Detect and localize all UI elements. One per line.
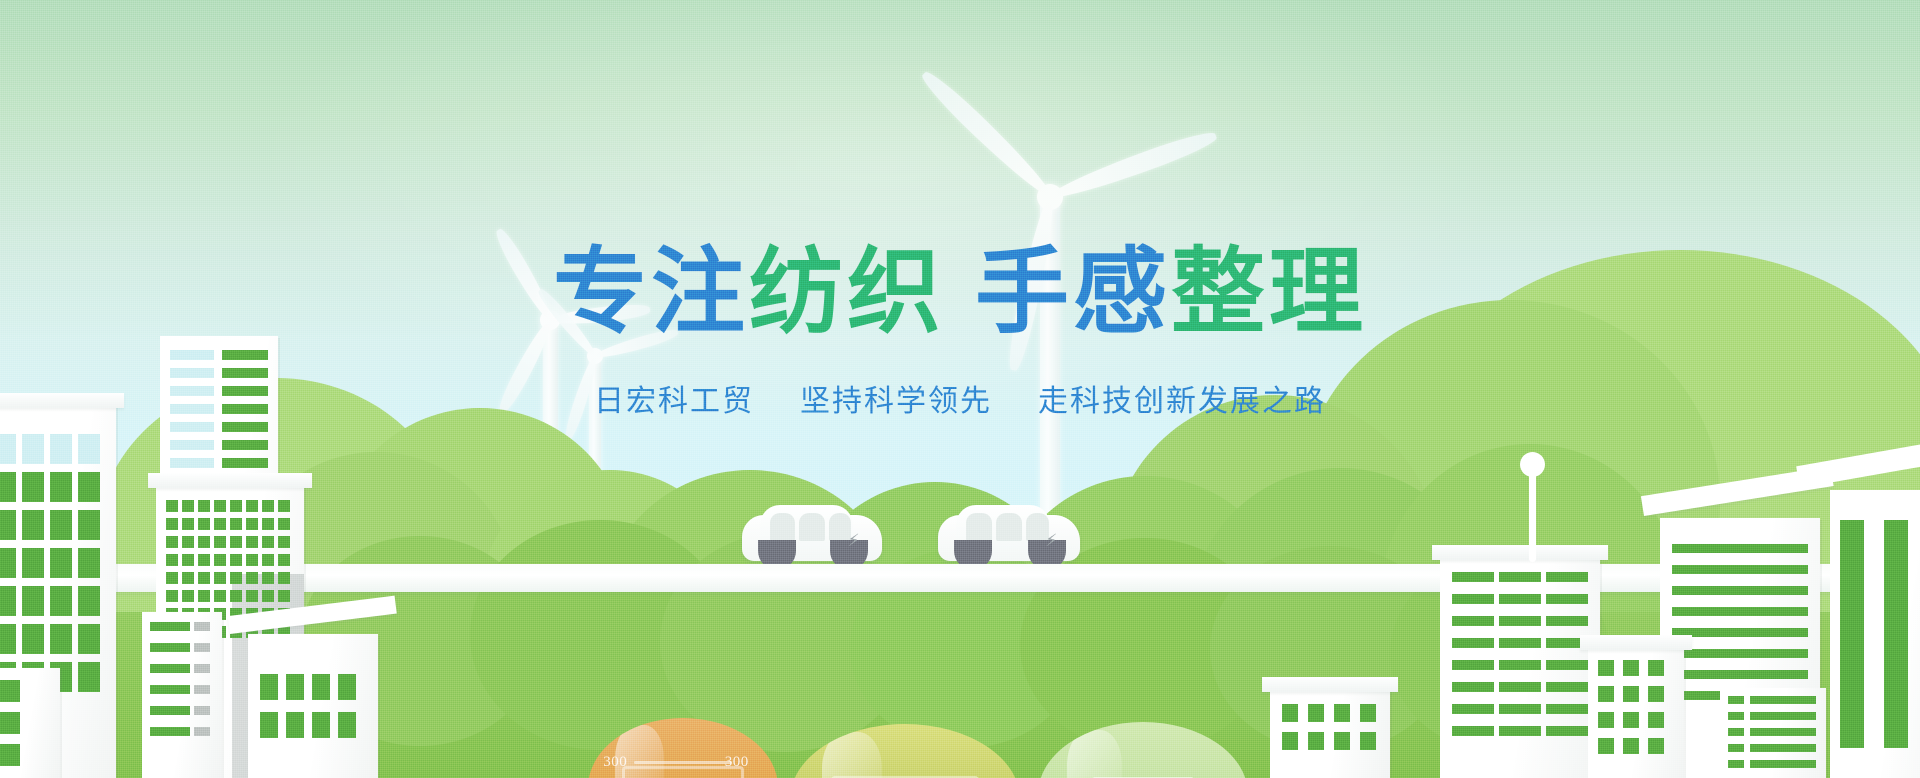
window [1840,520,1864,748]
window [1334,732,1350,750]
window [312,712,330,738]
window [1672,586,1808,595]
window [78,662,100,692]
window [150,622,190,631]
window [1546,616,1588,626]
electric-car-right: ⚡ [938,505,1080,561]
window [246,572,258,584]
window [1452,660,1494,670]
window [22,548,44,578]
window [0,712,20,734]
window [182,500,194,512]
window [1282,704,1298,722]
window [166,536,178,548]
window-grid [1282,704,1378,750]
window [1728,760,1744,768]
window [0,624,16,654]
window-grid [0,434,106,692]
window [222,440,268,450]
window [1452,726,1494,736]
beaker-gloss [1067,730,1122,778]
window [1452,616,1494,626]
window [246,590,258,602]
window [150,664,190,673]
window [1750,712,1816,720]
window [1360,732,1376,750]
window [194,622,210,631]
subtitle-part-1: 日宏科工贸 [594,385,754,418]
window [1452,638,1494,648]
window [1750,728,1816,736]
window [1884,520,1908,748]
window [1728,696,1744,704]
window [50,548,72,578]
window [0,434,16,464]
antenna-mast [1529,470,1536,562]
window [214,572,226,584]
window [0,744,20,766]
window [214,536,226,548]
window-stripe-grid [1672,544,1808,700]
window [1672,607,1808,616]
window [262,554,274,566]
window [278,554,290,566]
window [194,685,210,694]
window [182,590,194,602]
window [182,518,194,530]
window [1623,660,1639,676]
window [150,727,190,736]
electric-car-left: ⚡ [742,505,882,561]
window [170,458,214,468]
window [1499,660,1541,670]
window [278,500,290,512]
building-roof [1262,677,1398,692]
window [1499,638,1541,648]
window [1452,572,1494,582]
window [1648,660,1664,676]
window [198,536,210,548]
window [1546,660,1588,670]
window [338,712,356,738]
building-far-left-small [0,668,60,778]
headline-segment-3: 手感 [975,239,1171,344]
window [1623,712,1639,728]
window [1728,712,1744,720]
window-grid [0,680,48,766]
window [246,500,258,512]
window [1308,732,1324,750]
window [170,350,214,360]
window [1546,682,1588,692]
window [1648,712,1664,728]
window [1728,728,1744,736]
window [22,434,44,464]
window [198,554,210,566]
window [278,590,290,602]
window [260,712,278,738]
window [1282,732,1298,750]
window [246,518,258,530]
window [214,500,226,512]
window [22,472,44,502]
window [78,510,100,540]
window [1672,544,1808,553]
subtitle-part-2: 坚持科学领先 [800,385,992,418]
window [1728,744,1744,752]
beaker-tick [634,761,733,764]
window [1499,726,1541,736]
window [1598,686,1614,702]
beaker-graduation-label: 300 [725,754,749,771]
window [260,674,278,700]
headline-segment-4: 整理 [1171,239,1367,344]
window [286,674,304,700]
window [1546,594,1588,604]
window [50,434,72,464]
window [222,458,268,468]
building-roof [148,473,312,488]
window [194,706,210,715]
window [1672,565,1808,574]
car-window [966,513,992,541]
window [1499,594,1541,604]
window [78,586,100,616]
window [1499,682,1541,692]
car-window [996,513,1022,541]
window [170,422,214,432]
window [338,674,356,700]
window [0,472,16,502]
window-column-grid [1840,520,1920,748]
window [222,350,268,360]
window [198,590,210,602]
window [78,472,100,502]
window [1750,744,1816,752]
window [22,510,44,540]
window [0,548,16,578]
window [262,572,274,584]
turbine-blade [1047,127,1219,205]
window-grid [1598,660,1672,754]
window [78,548,100,578]
window [1598,738,1614,754]
car-window [770,513,795,541]
window [1598,712,1614,728]
window [1499,616,1541,626]
window [1499,572,1541,582]
page-title: 专注纺织手感整理 [0,245,1920,339]
window [150,706,190,715]
window [230,536,242,548]
window [194,643,210,652]
window [50,510,72,540]
window [1452,682,1494,692]
window-stripe-grid [1452,572,1588,736]
headline-segment-2: 纺织 [749,239,945,344]
window [230,590,242,602]
window [198,500,210,512]
lightning-bolt-icon: ⚡ [1045,532,1057,549]
window-stripe-grid [150,622,212,736]
window-grid [260,674,366,738]
window [1452,594,1494,604]
window [214,518,226,530]
beaker-graduation-label: 300 [603,754,627,771]
window [246,554,258,566]
window [1499,704,1541,714]
building-right-low [1270,690,1390,778]
window [1750,696,1816,704]
window-stripe-grid [1728,696,1818,768]
window [22,586,44,616]
window [262,590,274,602]
hero-banner: ⚡ ⚡ [0,0,1920,778]
window [182,572,194,584]
window [214,554,226,566]
window [1672,649,1808,658]
window [78,434,100,464]
antenna-ball-icon [1520,452,1545,477]
car-window [799,513,824,541]
building-dotted-small [1588,648,1684,778]
window [1598,660,1614,676]
building-antenna-tower [1440,558,1600,778]
subtitle-part-3: 走科技创新发展之路 [1038,385,1326,418]
window [230,518,242,530]
headline-segment-1: 专注 [553,239,749,344]
building-colonnade [1830,490,1920,778]
building-pitched-roof [248,634,378,778]
window [22,624,44,654]
window [1546,726,1588,736]
window [1360,704,1376,722]
window [166,500,178,512]
window [278,536,290,548]
window [166,554,178,566]
window [78,624,100,654]
window [150,643,190,652]
turbine-blade [917,67,1057,203]
building-left-bar [142,612,222,778]
lightning-bolt-icon: ⚡ [848,532,860,549]
window [230,500,242,512]
window [0,680,20,702]
window [1672,670,1808,679]
window [182,554,194,566]
window [262,536,274,548]
window [0,586,16,616]
window [50,472,72,502]
window [1308,704,1324,722]
window [1452,704,1494,714]
window [230,572,242,584]
window [182,536,194,548]
window [246,536,258,548]
window [1648,738,1664,754]
window [198,518,210,530]
window [230,554,242,566]
window [166,518,178,530]
window [166,572,178,584]
window [1623,738,1639,754]
page-subtitle: 日宏科工贸坚持科学领先走科技创新发展之路 [0,376,1920,420]
building-right-bars [1720,688,1826,778]
window [50,624,72,654]
window [1672,628,1808,637]
building-roof [1580,635,1692,650]
window [0,510,16,540]
window [262,500,274,512]
window [170,440,214,450]
window [1648,686,1664,702]
window [1546,704,1588,714]
window [1334,704,1350,722]
window [278,518,290,530]
window [312,674,330,700]
window [194,664,210,673]
beaker-gloss [822,732,882,778]
window [222,422,268,432]
window [194,727,210,736]
window [278,572,290,584]
window [214,590,226,602]
window [50,586,72,616]
window [1623,686,1639,702]
window [262,518,274,530]
window [1546,572,1588,582]
window [166,590,178,602]
window [198,572,210,584]
building-roof [1432,545,1608,560]
window [286,712,304,738]
window [150,685,190,694]
window [1750,760,1816,768]
